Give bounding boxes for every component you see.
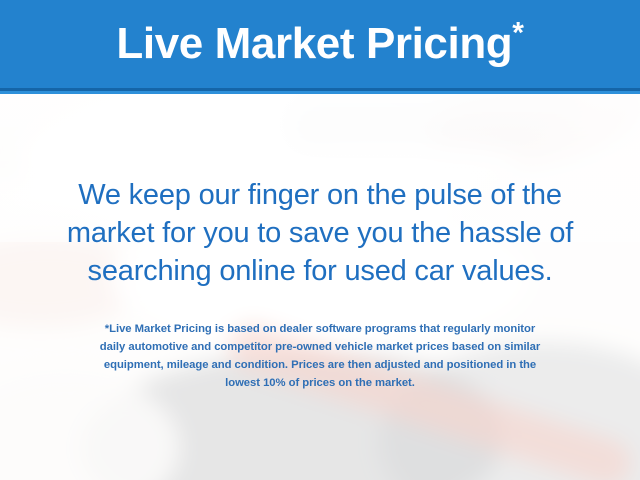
disclaimer-line-1: *Live Market Pricing is based on dealer … — [30, 320, 610, 338]
headline: We keep our finger on the pulse of the m… — [20, 176, 620, 290]
content-area: We keep our finger on the pulse of the m… — [0, 0, 640, 480]
headline-line-1: We keep our finger on the pulse of the — [20, 176, 620, 214]
headline-line-3: searching online for used car values. — [20, 252, 620, 290]
headline-line-2: market for you to save you the hassle of — [20, 214, 620, 252]
live-market-pricing-card: Live Market Pricing* We keep our finger … — [0, 0, 640, 480]
disclaimer: *Live Market Pricing is based on dealer … — [30, 320, 610, 392]
disclaimer-line-2: daily automotive and competitor pre-owne… — [30, 338, 610, 356]
disclaimer-line-3: equipment, mileage and condition. Prices… — [30, 356, 610, 374]
disclaimer-line-4: lowest 10% of prices on the market. — [30, 374, 610, 392]
